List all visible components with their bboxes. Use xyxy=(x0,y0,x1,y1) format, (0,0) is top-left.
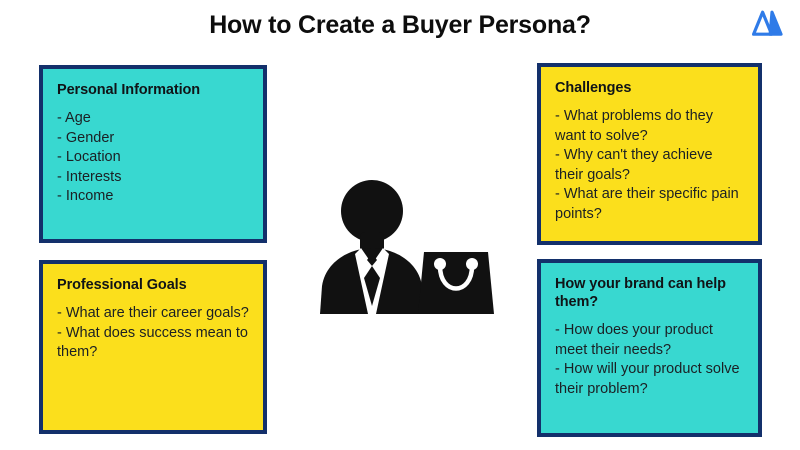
card-challenges: Challenges - What problems do they want … xyxy=(537,63,762,245)
mountain-logo-icon xyxy=(752,8,786,38)
list-item: - Gender xyxy=(57,129,249,149)
card-title: How your brand can help them? xyxy=(555,275,744,311)
card-item-list: - What problems do they want to solve? -… xyxy=(555,107,744,224)
card-title: Challenges xyxy=(555,79,744,97)
list-item: - What are their career goals? xyxy=(57,304,249,324)
list-item: - What are their specific pain points? xyxy=(555,185,744,224)
card-item-list: - Age - Gender - Location - Interests - … xyxy=(57,109,249,207)
list-item: - How will your product solve their prob… xyxy=(555,360,744,399)
list-item: - How does your product meet their needs… xyxy=(555,321,744,360)
list-item: - Interests xyxy=(57,168,249,188)
list-item: - Why can't they achieve their goals? xyxy=(555,146,744,185)
card-personal-information: Personal Information - Age - Gender - Lo… xyxy=(39,65,267,243)
card-item-list: - How does your product meet their needs… xyxy=(555,321,744,399)
card-professional-goals: Professional Goals - What are their care… xyxy=(39,260,267,434)
list-item: - Age xyxy=(57,109,249,129)
list-item: - What does success mean to them? xyxy=(57,324,249,363)
list-item: - Income xyxy=(57,187,249,207)
page-title: How to Create a Buyer Persona? xyxy=(0,10,800,40)
card-item-list: - What are their career goals? - What do… xyxy=(57,304,249,363)
list-item: - Location xyxy=(57,148,249,168)
card-title: Personal Information xyxy=(57,81,249,99)
list-item: - What problems do they want to solve? xyxy=(555,107,744,146)
business-person-with-shopping-bag-icon xyxy=(312,174,498,322)
card-brand-help: How your brand can help them? - How does… xyxy=(537,259,762,437)
card-title: Professional Goals xyxy=(57,276,249,294)
